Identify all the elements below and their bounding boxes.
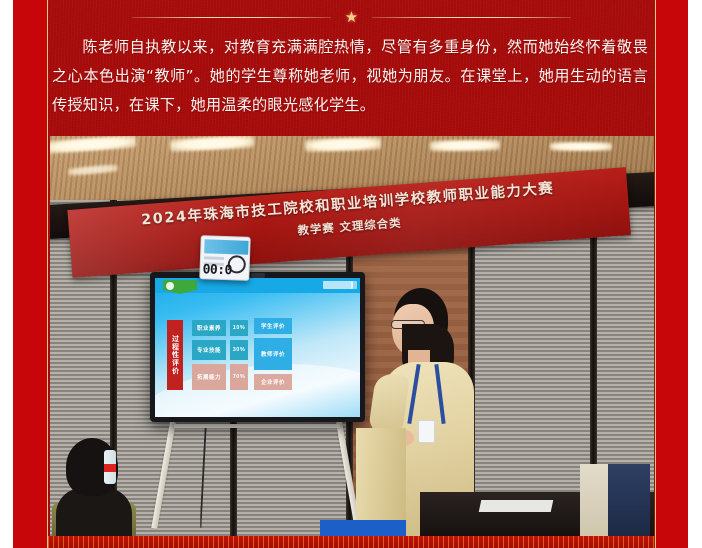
slide-logo-dot [166, 282, 174, 290]
water-bottle [104, 450, 116, 484]
ceiling-light [68, 164, 119, 176]
tablet-text-line [204, 256, 224, 260]
slide-cell: 拓展能力 [192, 364, 226, 390]
slide-cell: 职业素养 [192, 320, 226, 336]
slide-cell: 学生评价 [254, 318, 292, 334]
slide-cell: 专业技能 [192, 340, 226, 360]
foreground [50, 428, 654, 536]
photo-scene: 2024年珠海市技工院校和职业培训学校教师职业能力大赛 教学赛 文理综合类 [50, 136, 654, 536]
timer-tablet: 00:0 [199, 235, 251, 281]
bottom-red-strip [48, 536, 655, 548]
slide-header-chip [323, 281, 353, 289]
bottle-label [104, 464, 116, 472]
star-icon: ★ [345, 10, 358, 25]
ceiling-light [550, 142, 612, 151]
classroom-photo: 2024年珠海市技工院校和职业培训学校教师职业能力大赛 教学赛 文理综合类 [50, 136, 654, 536]
star-divider: ★ [48, 8, 655, 26]
whiteboard-screen: 过程性评价 职业素养 专业技能 拓展能力 10% 30% 70% 学生评价 教师… [155, 278, 360, 417]
slide-cell: 70% [230, 364, 248, 390]
interactive-whiteboard: 过程性评价 职业素养 专业技能 拓展能力 10% 30% 70% 学生评价 教师… [150, 272, 365, 422]
paper-stack [479, 500, 554, 512]
ceiling-light [170, 136, 255, 152]
divider-rule-right [372, 17, 571, 18]
slide-cell: 10% [230, 320, 248, 336]
slide-cell: 30% [230, 340, 248, 360]
ceiling-light [305, 137, 381, 153]
divider-rule-left [132, 17, 331, 18]
tablet-image [204, 239, 248, 255]
slide-cell: 企业评价 [254, 374, 292, 390]
ceiling-light [430, 139, 500, 151]
article-paragraph: 陈老师自执教以来，对教育充满满腔热情，尽管有多重身份，然而她始终怀着敬畏之心本色… [52, 33, 648, 120]
slide-cell: 教师评价 [254, 338, 292, 370]
timer-readout: 00:0 [202, 262, 232, 278]
slide-vertical-label: 过程性评价 [167, 320, 183, 390]
gold-rule-right [655, 0, 656, 548]
ceiling-light [50, 136, 136, 154]
slide-header-chip [351, 281, 357, 289]
page-root: ★ 陈老师自执教以来，对教育充满满腔热情，尽管有多重身份，然而她始终怀着敬畏之心… [0, 0, 702, 548]
blue-crate [320, 520, 406, 536]
podium-panel [608, 464, 650, 536]
